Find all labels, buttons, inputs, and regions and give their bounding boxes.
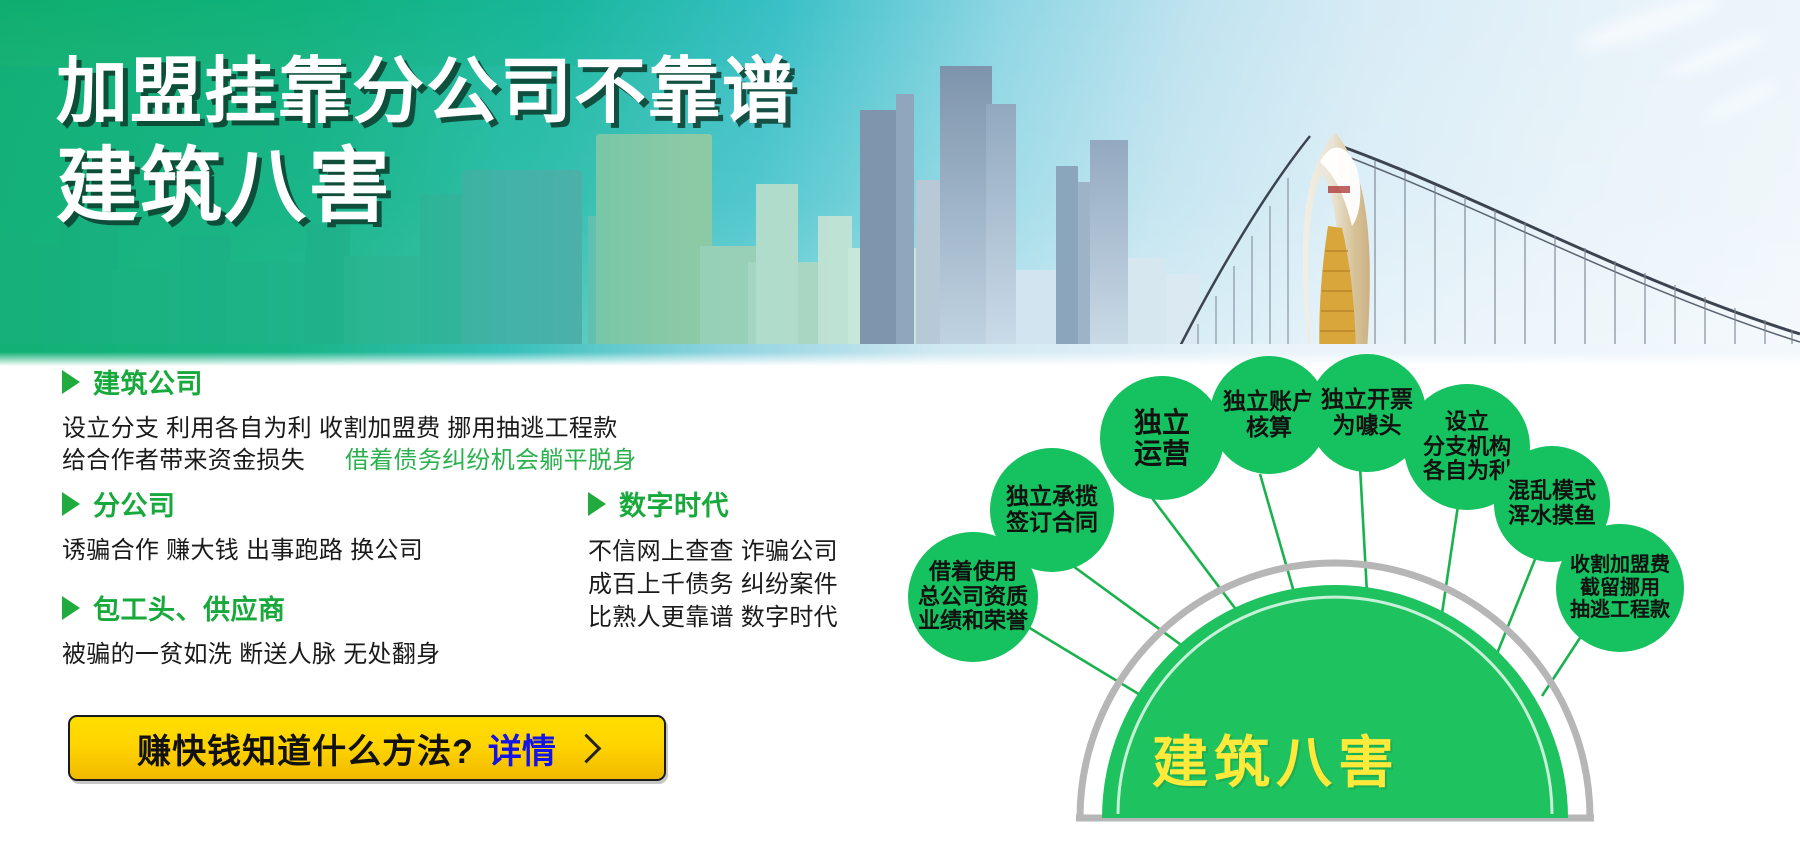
triangle-bullet-icon [588, 492, 606, 516]
bubble-line: 收割加盟费 [1570, 554, 1670, 576]
section-heading: 分公司 [62, 484, 423, 523]
section-line: 成百上千债务 纠纷案件 [588, 568, 838, 601]
section-contractor-supplier: 包工头、供应商 被骗的一贫如洗 断送人脉 无处翻身 [62, 588, 440, 671]
bubble-line: 设立 [1423, 410, 1511, 435]
bubble-line: 独立承揽 [1006, 484, 1098, 510]
section-body: 设立分支 利用各自为利 收割加盟费 挪用抽逃工程款 给合作者带来资金损失 借着债… [62, 413, 637, 477]
section-line-highlight: 借着债务纠纷机会躺平脱身 [345, 447, 637, 474]
bubble-line: 浑水摸鱼 [1508, 504, 1596, 529]
bubble-line: 独立账户 [1223, 389, 1315, 415]
section-heading: 建筑公司 [62, 362, 637, 401]
bubble-line: 抽逃工程款 [1570, 599, 1670, 621]
dome-center-label: 建筑八害 [1152, 718, 1400, 799]
section-heading: 数字时代 [588, 484, 838, 523]
bubble-line: 独立开票 [1321, 387, 1413, 413]
section-line: 被骗的一贫如洗 断送人脉 无处翻身 [62, 639, 440, 671]
section-line: 诱骗合作 赚大钱 出事跑路 换公司 [62, 535, 423, 567]
bridge-illustration [1160, 66, 1800, 366]
details-cta-button[interactable]: 赚快钱知道什么方法? 详情 [68, 715, 666, 781]
bubble-independent-operation[interactable]: 独立 运营 [1100, 376, 1224, 500]
section-body: 诱骗合作 赚大钱 出事跑路 换公司 [62, 535, 423, 567]
hero-banner: 加盟挂靠分公司不靠谱 建筑八害 [0, 0, 1800, 366]
section-digital-era: 数字时代 不信网上查查 诈骗公司 成百上千债务 纠纷案件 比熟人更靠谱 数字时代 [588, 484, 838, 634]
section-line: 给合作者带来资金损失 [62, 447, 305, 474]
bubble-line: 截留挪用 [1570, 577, 1670, 599]
hero-title-line2: 建筑八害 [56, 145, 796, 229]
bubble-line: 为噱头 [1321, 413, 1413, 439]
chevron-right-icon [572, 733, 602, 763]
section-branch-company: 分公司 诱骗合作 赚大钱 出事跑路 换公司 [62, 484, 423, 567]
hero-title-line1: 加盟挂靠分公司不靠谱 [56, 56, 796, 129]
section-heading: 包工头、供应商 [62, 588, 440, 627]
poster-root: 加盟挂靠分公司不靠谱 建筑八害 建筑公司 设立分支 利用各自为利 收割加盟费 挪… [0, 0, 1800, 844]
bubble-diagram: 建筑八害 借着使用 总公司资质 业绩和荣誉 独立承揽 签订合同 独立 运营 独立… [880, 366, 1800, 844]
bubble-line: 分支机构 [1423, 435, 1511, 460]
section-title: 包工头、供应商 [93, 588, 286, 627]
section-construction-company: 建筑公司 设立分支 利用各自为利 收割加盟费 挪用抽逃工程款 给合作者带来资金损… [62, 362, 637, 477]
hero-title: 加盟挂靠分公司不靠谱 建筑八害 [56, 56, 796, 229]
cta-label: 赚快钱知道什么方法? [137, 724, 474, 773]
bubble-line: 业绩和荣誉 [918, 609, 1028, 634]
triangle-bullet-icon [62, 370, 80, 394]
triangle-bullet-icon [62, 596, 80, 620]
bubble-line: 借着使用 [918, 560, 1028, 585]
bubble-line: 运营 [1134, 438, 1190, 469]
left-content: 建筑公司 设立分支 利用各自为利 收割加盟费 挪用抽逃工程款 给合作者带来资金损… [0, 366, 900, 844]
triangle-bullet-icon [62, 492, 80, 516]
bubble-independent-contracting[interactable]: 独立承揽 签订合同 [990, 448, 1114, 572]
section-line: 不信网上查查 诈骗公司 [588, 535, 838, 568]
section-title: 分公司 [93, 484, 176, 523]
section-body: 不信网上查查 诈骗公司 成百上千债务 纠纷案件 比熟人更靠谱 数字时代 [588, 535, 838, 634]
section-line: 设立分支 利用各自为利 收割加盟费 挪用抽逃工程款 [62, 415, 618, 442]
cta-details-link[interactable]: 详情 [488, 724, 556, 773]
bubble-line: 总公司资质 [918, 585, 1028, 610]
bubble-line: 混乱模式 [1508, 479, 1596, 504]
section-line: 比熟人更靠谱 数字时代 [588, 601, 838, 634]
bubble-franchise-fee-diversion[interactable]: 收割加盟费 截留挪用 抽逃工程款 [1556, 524, 1684, 652]
bubble-line: 独立 [1134, 407, 1190, 438]
bubble-line: 核算 [1223, 415, 1315, 441]
section-title: 建筑公司 [93, 362, 203, 401]
section-body: 被骗的一贫如洗 断送人脉 无处翻身 [62, 639, 440, 671]
section-title: 数字时代 [619, 484, 729, 523]
bubble-line: 签订合同 [1006, 510, 1098, 536]
